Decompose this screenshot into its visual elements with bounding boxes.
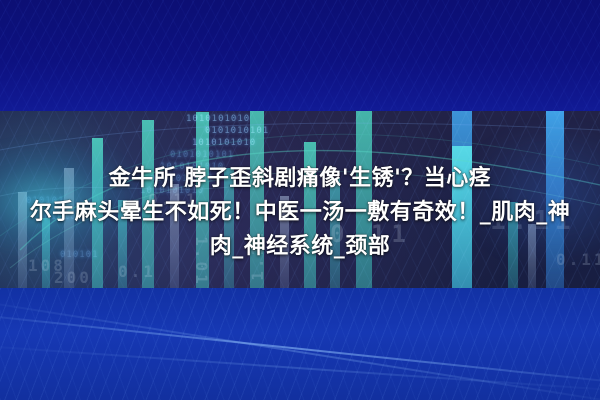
light-streak-2	[0, 294, 600, 400]
top-color-band	[0, 0, 600, 111]
caption-overlay: 金牛所 脖子歪斜剧痛像'生锈'？当心痉 尔手麻头晕生不如死！中医一汤一敷有奇效！…	[0, 111, 600, 288]
light-streak-3	[0, 342, 600, 394]
caption-line-2: 尔手麻头晕生不如死！中医一汤一敷有奇效！_肌肉_神	[30, 196, 571, 230]
thumbnail-image: 0101010101 1010101010 0101010101 1010101…	[0, 0, 600, 400]
caption-line-1: 金牛所 脖子歪斜剧痛像'生锈'？当心痉	[109, 162, 492, 196]
light-streak-1	[0, 310, 600, 387]
bottom-color-band	[0, 288, 600, 400]
caption-line-3: 肉_神经系统_颈部	[210, 230, 391, 264]
